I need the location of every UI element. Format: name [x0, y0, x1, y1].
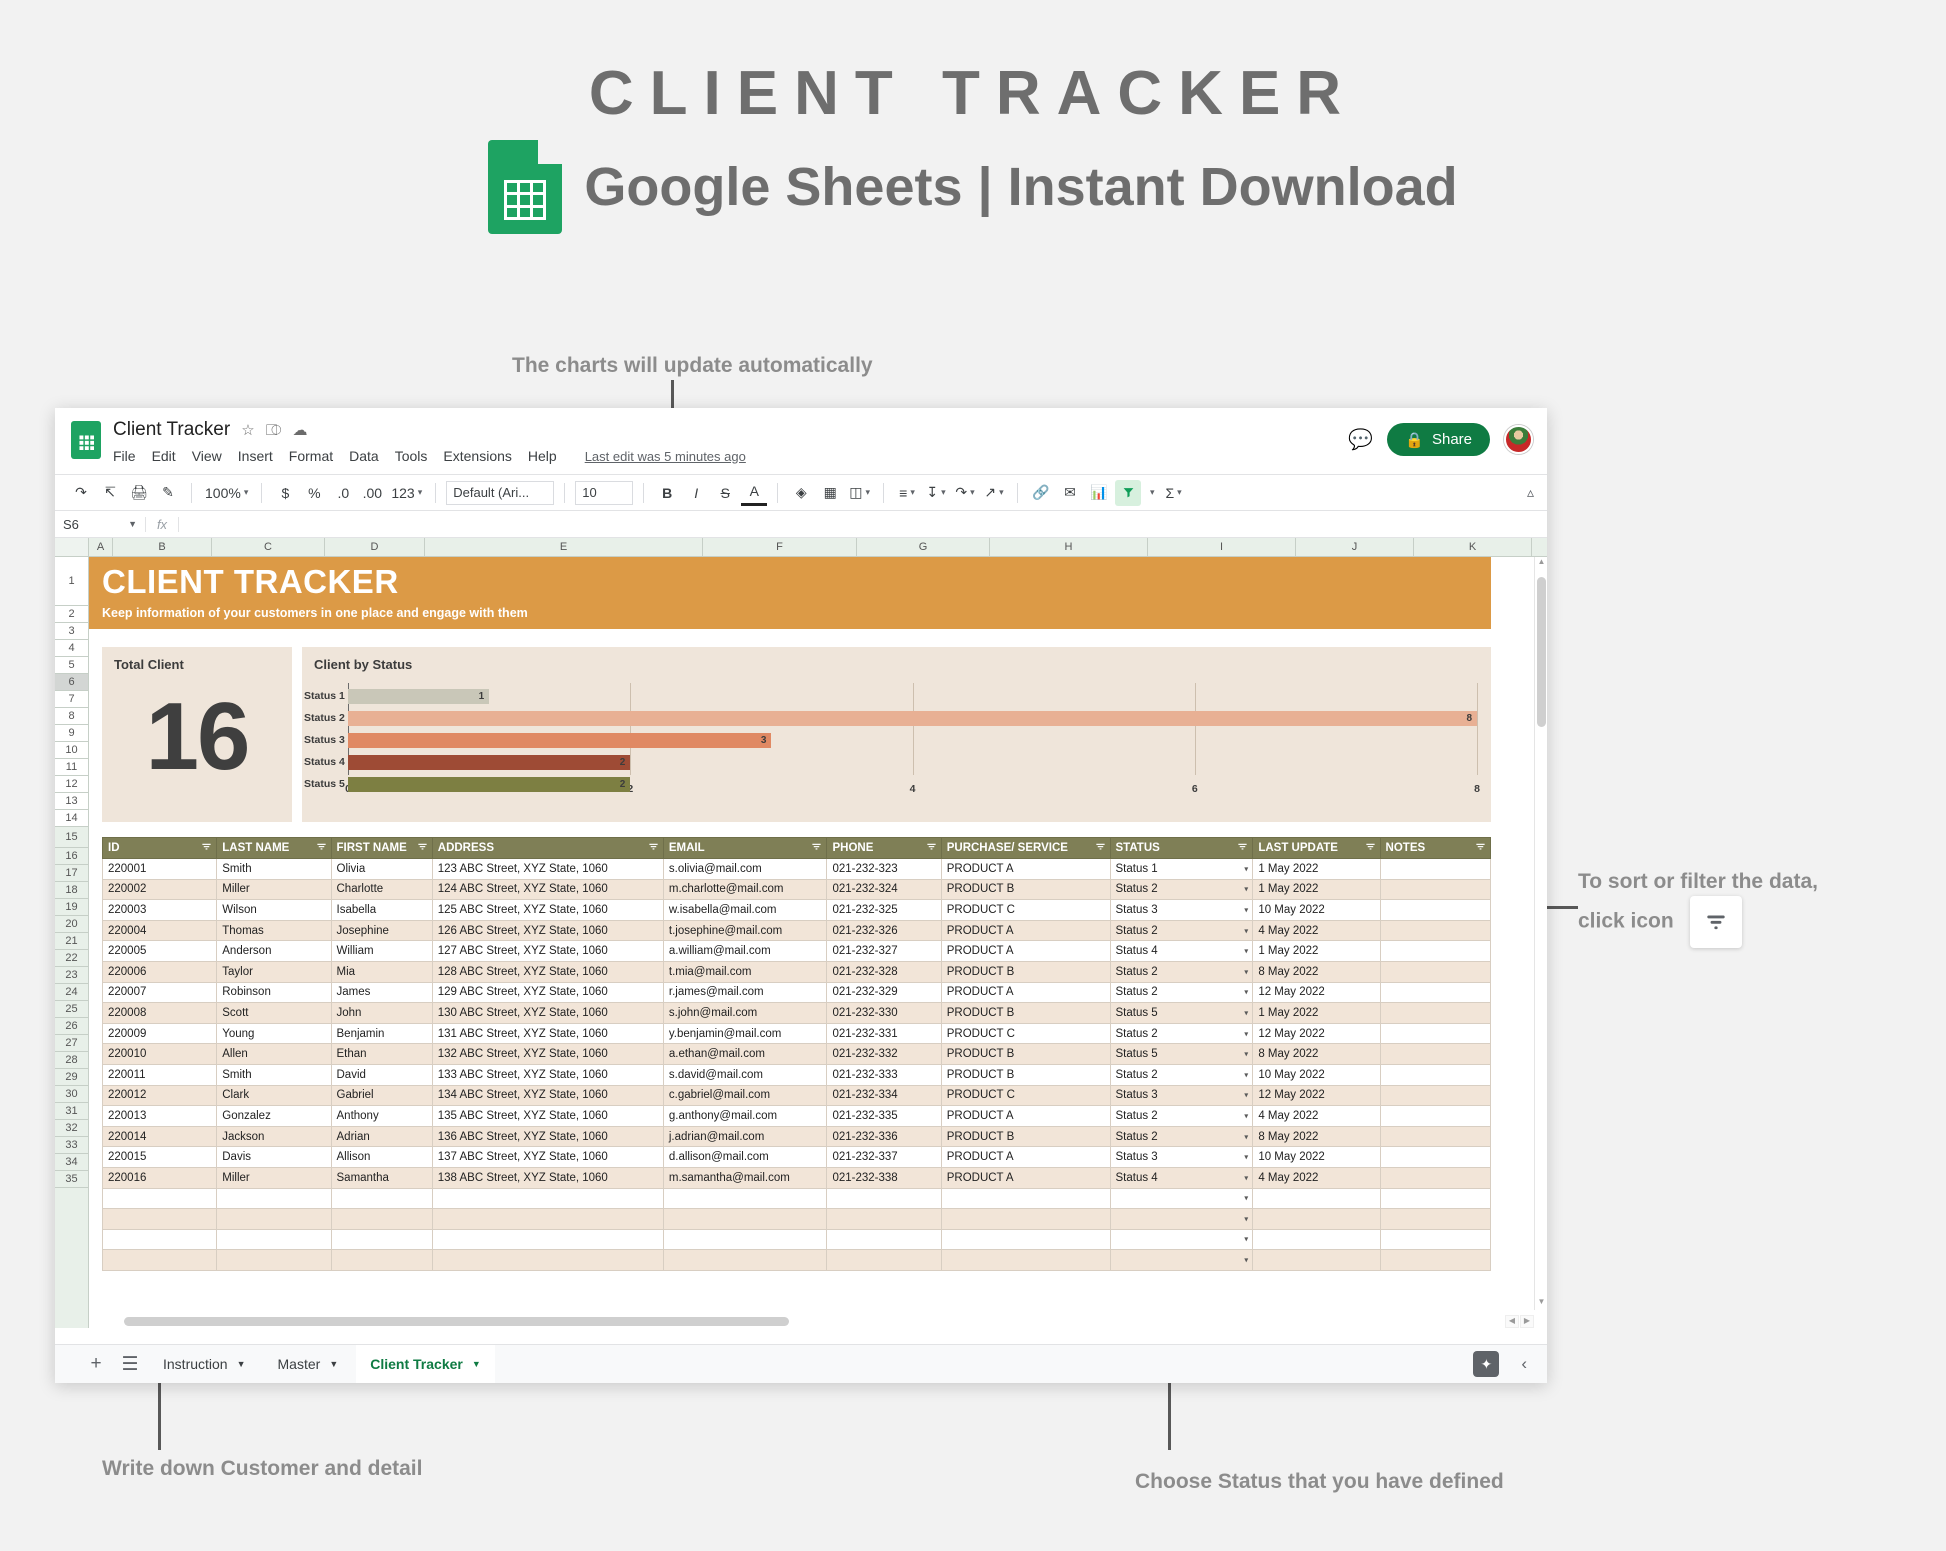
table-cell[interactable]: 021-232-328	[827, 961, 941, 982]
filter-icon[interactable]	[926, 841, 937, 855]
table-cell[interactable]: 133 ABC Street, XYZ State, 1060	[432, 1064, 663, 1085]
table-cell[interactable]: 12 May 2022	[1253, 982, 1380, 1003]
table-cell[interactable]: 124 ABC Street, XYZ State, 1060	[432, 879, 663, 900]
table-cell[interactable]	[1253, 1188, 1380, 1209]
row-header-24[interactable]: 24	[55, 984, 88, 1001]
chevron-down-icon[interactable]: ▾	[1244, 1256, 1248, 1265]
table-row[interactable]: 220009YoungBenjamin131 ABC Street, XYZ S…	[103, 1023, 1491, 1044]
table-cell[interactable]	[1380, 1023, 1490, 1044]
table-cell[interactable]: 136 ABC Street, XYZ State, 1060	[432, 1126, 663, 1147]
scroll-right-icon[interactable]: ▶	[1520, 1315, 1534, 1328]
table-row[interactable]: 220004ThomasJosephine126 ABC Street, XYZ…	[103, 920, 1491, 941]
table-cell[interactable]: PRODUCT B	[941, 1003, 1110, 1024]
table-header-last-name[interactable]: LAST NAME	[217, 838, 331, 859]
table-cell[interactable]: 126 ABC Street, XYZ State, 1060	[432, 920, 663, 941]
row-header-22[interactable]: 22	[55, 950, 88, 967]
table-cell[interactable]	[1380, 1229, 1490, 1250]
font-size-selector[interactable]: 10	[575, 481, 633, 505]
table-cell[interactable]	[663, 1229, 827, 1250]
vertical-scroll-thumb[interactable]	[1537, 577, 1546, 727]
row-header-30[interactable]: 30	[55, 1086, 88, 1103]
redo-icon[interactable]: ↸	[97, 480, 123, 506]
filter-icon[interactable]	[417, 841, 428, 855]
table-cell[interactable]: 1 May 2022	[1253, 859, 1380, 880]
table-cell[interactable]: 021-232-325	[827, 900, 941, 921]
zoom-selector[interactable]: 100%	[202, 480, 251, 506]
row-header-23[interactable]: 23	[55, 967, 88, 984]
table-cell[interactable]: PRODUCT A	[941, 1147, 1110, 1168]
table-row[interactable]: 220003WilsonIsabella125 ABC Street, XYZ …	[103, 900, 1491, 921]
table-header-purchase-service[interactable]: PURCHASE/ SERVICE	[941, 838, 1110, 859]
status-dropdown-cell[interactable]: Status 4▾	[1110, 1167, 1253, 1188]
table-row-empty[interactable]: ▾	[103, 1188, 1491, 1209]
table-cell[interactable]: 125 ABC Street, XYZ State, 1060	[432, 900, 663, 921]
table-cell[interactable]	[1380, 1167, 1490, 1188]
horizontal-scroll-thumb[interactable]	[124, 1317, 789, 1326]
table-cell[interactable]: Smith	[217, 1064, 331, 1085]
table-row-empty[interactable]: ▾	[103, 1209, 1491, 1230]
table-cell[interactable]	[331, 1209, 432, 1230]
chevron-down-icon[interactable]: ▾	[1244, 1173, 1248, 1182]
decrease-decimal-button[interactable]: .0	[330, 480, 356, 506]
table-cell[interactable]	[1253, 1250, 1380, 1271]
status-dropdown-cell[interactable]: Status 3▾	[1110, 1147, 1253, 1168]
status-dropdown-cell[interactable]: Status 4▾	[1110, 941, 1253, 962]
print-icon[interactable]: 🖨	[126, 480, 152, 506]
table-cell[interactable]: Gabriel	[331, 1085, 432, 1106]
table-cell[interactable]	[941, 1229, 1110, 1250]
chevron-down-icon[interactable]: ▼	[472, 1359, 481, 1369]
row-header-13[interactable]: 13	[55, 793, 88, 810]
filter-icon[interactable]	[201, 841, 212, 855]
table-row[interactable]: 220013GonzalezAnthony135 ABC Street, XYZ…	[103, 1106, 1491, 1127]
table-cell[interactable]	[331, 1188, 432, 1209]
table-cell[interactable]: Smith	[217, 859, 331, 880]
table-cell[interactable]	[432, 1250, 663, 1271]
table-cell[interactable]: Scott	[217, 1003, 331, 1024]
table-header-address[interactable]: ADDRESS	[432, 838, 663, 859]
table-cell[interactable]	[1380, 920, 1490, 941]
table-cell[interactable]: Benjamin	[331, 1023, 432, 1044]
table-cell[interactable]: 021-232-329	[827, 982, 941, 1003]
table-cell[interactable]: Miller	[217, 1167, 331, 1188]
table-cell[interactable]	[331, 1229, 432, 1250]
table-cell[interactable]: 220007	[103, 982, 217, 1003]
table-cell[interactable]: John	[331, 1003, 432, 1024]
table-cell[interactable]	[1380, 941, 1490, 962]
table-cell[interactable]: 220012	[103, 1085, 217, 1106]
table-header-first-name[interactable]: FIRST NAME	[331, 838, 432, 859]
table-cell[interactable]: t.josephine@mail.com	[663, 920, 827, 941]
table-cell[interactable]: 220013	[103, 1106, 217, 1127]
row-header-28[interactable]: 28	[55, 1052, 88, 1069]
column-header-j[interactable]: J	[1296, 538, 1414, 556]
sheet-tab-master[interactable]: Master ▼	[264, 1345, 353, 1384]
table-header-id[interactable]: ID	[103, 838, 217, 859]
menu-data[interactable]: Data	[349, 448, 379, 464]
table-row-empty[interactable]: ▾	[103, 1250, 1491, 1271]
table-cell[interactable]: 021-232-331	[827, 1023, 941, 1044]
chevron-down-icon[interactable]: ▼	[237, 1359, 246, 1369]
table-cell[interactable]	[1380, 982, 1490, 1003]
table-cell[interactable]	[1380, 1147, 1490, 1168]
table-row[interactable]: 220001SmithOlivia123 ABC Street, XYZ Sta…	[103, 859, 1491, 880]
row-header-7[interactable]: 7	[55, 691, 88, 708]
table-cell[interactable]: 021-232-336	[827, 1126, 941, 1147]
table-cell[interactable]: 123 ABC Street, XYZ State, 1060	[432, 859, 663, 880]
table-cell[interactable]	[103, 1188, 217, 1209]
table-cell[interactable]: 021-232-338	[827, 1167, 941, 1188]
row-header-29[interactable]: 29	[55, 1069, 88, 1086]
table-cell[interactable]: James	[331, 982, 432, 1003]
italic-button[interactable]: I	[683, 480, 709, 506]
row-header-2[interactable]: 2	[55, 606, 88, 623]
table-cell[interactable]: 4 May 2022	[1253, 1106, 1380, 1127]
table-cell[interactable]: s.john@mail.com	[663, 1003, 827, 1024]
row-header-12[interactable]: 12	[55, 776, 88, 793]
text-rotation-icon[interactable]: ↗	[981, 480, 1007, 506]
horizontal-scrollbar[interactable]	[89, 1315, 1517, 1328]
table-row[interactable]: 220015DavisAllison137 ABC Street, XYZ St…	[103, 1147, 1491, 1168]
status-dropdown-cell[interactable]: Status 2▾	[1110, 961, 1253, 982]
table-cell[interactable]: 220008	[103, 1003, 217, 1024]
table-header-phone[interactable]: PHONE	[827, 838, 941, 859]
chevron-down-icon[interactable]: ▾	[1244, 1070, 1248, 1079]
row-header-15[interactable]: 15	[55, 827, 88, 848]
table-cell[interactable]: 220004	[103, 920, 217, 941]
table-cell[interactable]: 138 ABC Street, XYZ State, 1060	[432, 1167, 663, 1188]
table-row[interactable]: 220006TaylorMia128 ABC Street, XYZ State…	[103, 961, 1491, 982]
table-cell[interactable]	[432, 1209, 663, 1230]
table-cell[interactable]	[1380, 900, 1490, 921]
table-cell[interactable]: PRODUCT B	[941, 961, 1110, 982]
table-cell[interactable]: 12 May 2022	[1253, 1085, 1380, 1106]
table-cell[interactable]	[941, 1250, 1110, 1271]
status-dropdown-cell[interactable]: Status 2▾	[1110, 1126, 1253, 1147]
table-cell[interactable]: 220002	[103, 879, 217, 900]
share-button[interactable]: 🔒 Share	[1387, 423, 1490, 456]
table-cell[interactable]: a.william@mail.com	[663, 941, 827, 962]
table-cell[interactable]: PRODUCT A	[941, 1167, 1110, 1188]
row-header-14[interactable]: 14	[55, 810, 88, 827]
menu-format[interactable]: Format	[289, 448, 333, 464]
table-cell[interactable]	[1380, 1209, 1490, 1230]
table-cell[interactable]: 220016	[103, 1167, 217, 1188]
row-header-1[interactable]: 1	[55, 557, 88, 606]
table-cell[interactable]: 220011	[103, 1064, 217, 1085]
table-cell[interactable]: PRODUCT A	[941, 920, 1110, 941]
row-header-34[interactable]: 34	[55, 1154, 88, 1171]
table-cell[interactable]: 220003	[103, 900, 217, 921]
table-cell[interactable]: 220010	[103, 1044, 217, 1065]
table-cell[interactable]: 8 May 2022	[1253, 1126, 1380, 1147]
table-row[interactable]: 220016MillerSamantha138 ABC Street, XYZ …	[103, 1167, 1491, 1188]
table-cell[interactable]: PRODUCT A	[941, 1106, 1110, 1127]
table-cell[interactable]	[663, 1250, 827, 1271]
table-cell[interactable]	[103, 1250, 217, 1271]
table-cell[interactable]: Davis	[217, 1147, 331, 1168]
filter-icon[interactable]	[1115, 480, 1141, 506]
user-avatar[interactable]	[1504, 425, 1533, 454]
status-dropdown-cell[interactable]: Status 2▾	[1110, 879, 1253, 900]
filter-icon[interactable]	[811, 841, 822, 855]
name-box[interactable]: S6 ▼	[55, 511, 145, 537]
table-header-notes[interactable]: NOTES	[1380, 838, 1490, 859]
row-header-31[interactable]: 31	[55, 1103, 88, 1120]
chevron-down-icon[interactable]: ▾	[1244, 885, 1248, 894]
fill-color-icon[interactable]: ◈	[788, 480, 814, 506]
table-row[interactable]: 220011SmithDavid133 ABC Street, XYZ Stat…	[103, 1064, 1491, 1085]
table-cell[interactable]: 220005	[103, 941, 217, 962]
table-cell[interactable]: w.isabella@mail.com	[663, 900, 827, 921]
table-cell[interactable]: Jackson	[217, 1126, 331, 1147]
table-cell[interactable]: 10 May 2022	[1253, 1147, 1380, 1168]
table-cell[interactable]	[1380, 1064, 1490, 1085]
insert-chart-icon[interactable]: 📊	[1086, 480, 1112, 506]
table-cell[interactable]: William	[331, 941, 432, 962]
table-cell[interactable]	[432, 1188, 663, 1209]
status-dropdown-cell[interactable]: Status 3▾	[1110, 1085, 1253, 1106]
table-cell[interactable]	[827, 1209, 941, 1230]
row-header-11[interactable]: 11	[55, 759, 88, 776]
table-cell[interactable]	[217, 1209, 331, 1230]
chevron-down-icon[interactable]: ▾	[1244, 1194, 1248, 1203]
table-cell[interactable]: 137 ABC Street, XYZ State, 1060	[432, 1147, 663, 1168]
chevron-down-icon[interactable]: ▾	[1244, 1091, 1248, 1100]
paint-format-icon[interactable]: ✎	[155, 480, 181, 506]
table-cell[interactable]	[1380, 961, 1490, 982]
table-cell[interactable]: Isabella	[331, 900, 432, 921]
chevron-down-icon[interactable]: ▾	[1244, 1008, 1248, 1017]
borders-icon[interactable]: ▦	[817, 480, 843, 506]
column-header-i[interactable]: I	[1148, 538, 1296, 556]
row-header-8[interactable]: 8	[55, 708, 88, 725]
table-row[interactable]: 220005AndersonWilliam127 ABC Street, XYZ…	[103, 941, 1491, 962]
table-cell[interactable]: y.benjamin@mail.com	[663, 1023, 827, 1044]
table-cell[interactable]: 132 ABC Street, XYZ State, 1060	[432, 1044, 663, 1065]
vertical-align-icon[interactable]: ↧	[923, 480, 949, 506]
table-cell[interactable]	[827, 1250, 941, 1271]
table-cell[interactable]: 021-232-326	[827, 920, 941, 941]
sheet-tab-client-tracker[interactable]: Client Tracker ▼	[356, 1345, 495, 1384]
table-cell[interactable]: 1 May 2022	[1253, 941, 1380, 962]
table-cell[interactable]: 130 ABC Street, XYZ State, 1060	[432, 1003, 663, 1024]
table-cell[interactable]	[1253, 1209, 1380, 1230]
table-cell[interactable]	[1380, 1126, 1490, 1147]
select-all-corner[interactable]	[55, 538, 89, 556]
table-cell[interactable]: Olivia	[331, 859, 432, 880]
table-cell[interactable]: 134 ABC Street, XYZ State, 1060	[432, 1085, 663, 1106]
table-cell[interactable]: PRODUCT B	[941, 1044, 1110, 1065]
table-cell[interactable]: m.charlotte@mail.com	[663, 879, 827, 900]
table-cell[interactable]: Clark	[217, 1085, 331, 1106]
filter-icon[interactable]	[648, 841, 659, 855]
table-cell[interactable]: Adrian	[331, 1126, 432, 1147]
sheet-tab-instruction[interactable]: Instruction ▼	[149, 1345, 260, 1384]
column-header-e[interactable]: E	[425, 538, 703, 556]
table-cell[interactable]: PRODUCT C	[941, 1023, 1110, 1044]
table-cell[interactable]: Charlotte	[331, 879, 432, 900]
table-cell[interactable]: Mia	[331, 961, 432, 982]
chevron-down-icon[interactable]: ▾	[1244, 947, 1248, 956]
table-cell[interactable]: Allen	[217, 1044, 331, 1065]
filter-icon[interactable]	[316, 841, 327, 855]
table-cell[interactable]	[1380, 1085, 1490, 1106]
table-cell[interactable]	[827, 1229, 941, 1250]
chevron-down-icon[interactable]: ▾	[1244, 1132, 1248, 1141]
table-cell[interactable]	[827, 1188, 941, 1209]
status-dropdown-cell[interactable]: Status 2▾	[1110, 1064, 1253, 1085]
table-cell[interactable]: PRODUCT C	[941, 1085, 1110, 1106]
chevron-down-icon[interactable]: ▾	[1244, 926, 1248, 935]
bold-button[interactable]: B	[654, 480, 680, 506]
table-cell[interactable]	[1380, 1250, 1490, 1271]
table-header-status[interactable]: STATUS	[1110, 838, 1253, 859]
table-cell[interactable]	[331, 1250, 432, 1271]
table-cell[interactable]	[432, 1229, 663, 1250]
table-cell[interactable]: 021-232-327	[827, 941, 941, 962]
table-cell[interactable]: Anderson	[217, 941, 331, 962]
row-header-25[interactable]: 25	[55, 1001, 88, 1018]
table-cell[interactable]: Ethan	[331, 1044, 432, 1065]
all-sheets-icon[interactable]: ☰	[115, 1353, 145, 1376]
column-header-h[interactable]: H	[990, 538, 1148, 556]
status-dropdown-cell[interactable]: Status 5▾	[1110, 1044, 1253, 1065]
column-header-f[interactable]: F	[703, 538, 857, 556]
table-cell[interactable]: 021-232-337	[827, 1147, 941, 1168]
row-header-3[interactable]: 3	[55, 623, 88, 640]
table-cell[interactable]: 021-232-323	[827, 859, 941, 880]
table-row[interactable]: 220012ClarkGabriel134 ABC Street, XYZ St…	[103, 1085, 1491, 1106]
table-cell[interactable]	[103, 1209, 217, 1230]
status-dropdown-cell[interactable]: Status 5▾	[1110, 1003, 1253, 1024]
table-header-email[interactable]: EMAIL	[663, 838, 827, 859]
text-wrap-icon[interactable]: ↷	[952, 480, 978, 506]
table-cell[interactable]	[941, 1209, 1110, 1230]
chevron-down-icon[interactable]: ▾	[1244, 1235, 1248, 1244]
table-cell[interactable]: 220006	[103, 961, 217, 982]
table-cell[interactable]: 128 ABC Street, XYZ State, 1060	[432, 961, 663, 982]
table-cell[interactable]: Allison	[331, 1147, 432, 1168]
table-cell[interactable]: 220001	[103, 859, 217, 880]
chevron-down-icon[interactable]: ▾	[1244, 967, 1248, 976]
merge-cells-icon[interactable]: ◫	[846, 480, 873, 506]
status-dropdown-cell[interactable]: Status 3▾	[1110, 900, 1253, 921]
chevron-down-icon[interactable]: ▾	[1244, 1111, 1248, 1120]
table-cell[interactable]: 10 May 2022	[1253, 1064, 1380, 1085]
table-cell[interactable]: PRODUCT B	[941, 1064, 1110, 1085]
chevron-down-icon[interactable]: ▼	[329, 1359, 338, 1369]
table-cell[interactable]: c.gabriel@mail.com	[663, 1085, 827, 1106]
status-dropdown-cell[interactable]: Status 2▾	[1110, 982, 1253, 1003]
table-row[interactable]: 220007RobinsonJames129 ABC Street, XYZ S…	[103, 982, 1491, 1003]
explore-icon[interactable]: ✦	[1473, 1351, 1499, 1377]
table-cell[interactable]: 220009	[103, 1023, 217, 1044]
menu-edit[interactable]: Edit	[152, 448, 176, 464]
add-sheet-icon[interactable]: +	[81, 1353, 111, 1375]
row-header-19[interactable]: 19	[55, 899, 88, 916]
table-cell[interactable]: 021-232-335	[827, 1106, 941, 1127]
table-cell[interactable]	[217, 1250, 331, 1271]
table-cell[interactable]: 220014	[103, 1126, 217, 1147]
table-cell[interactable]: 1 May 2022	[1253, 879, 1380, 900]
table-cell[interactable]: t.mia@mail.com	[663, 961, 827, 982]
table-cell[interactable]	[1380, 859, 1490, 880]
status-dropdown-cell[interactable]: ▾	[1110, 1209, 1253, 1230]
row-header-27[interactable]: 27	[55, 1035, 88, 1052]
table-cell[interactable]: 021-232-334	[827, 1085, 941, 1106]
table-cell[interactable]: PRODUCT B	[941, 879, 1110, 900]
chevron-down-icon[interactable]: ▾	[1244, 1214, 1248, 1223]
table-row[interactable]: 220002MillerCharlotte124 ABC Street, XYZ…	[103, 879, 1491, 900]
document-title[interactable]: Client Tracker	[113, 419, 230, 441]
sum-icon[interactable]: Σ	[1161, 480, 1187, 506]
chevron-down-icon[interactable]: ▾	[1244, 1050, 1248, 1059]
column-header-g[interactable]: G	[857, 538, 990, 556]
table-row[interactable]: 220010AllenEthan132 ABC Street, XYZ Stat…	[103, 1044, 1491, 1065]
table-cell[interactable]	[941, 1188, 1110, 1209]
row-header-4[interactable]: 4	[55, 640, 88, 657]
strikethrough-button[interactable]: S	[712, 480, 738, 506]
status-dropdown-cell[interactable]: ▾	[1110, 1250, 1253, 1271]
table-cell[interactable]: g.anthony@mail.com	[663, 1106, 827, 1127]
filter-icon[interactable]	[1095, 841, 1106, 855]
row-header-17[interactable]: 17	[55, 865, 88, 882]
table-cell[interactable]: PRODUCT C	[941, 900, 1110, 921]
row-header-21[interactable]: 21	[55, 933, 88, 950]
increase-decimal-button[interactable]: .00	[359, 480, 385, 506]
table-cell[interactable]	[663, 1209, 827, 1230]
status-dropdown-cell[interactable]: Status 2▾	[1110, 1023, 1253, 1044]
filter-icon[interactable]	[1365, 841, 1376, 855]
scroll-down-icon[interactable]: ▼	[1535, 1297, 1547, 1310]
scroll-up-icon[interactable]: ▲	[1535, 557, 1547, 570]
menu-view[interactable]: View	[192, 448, 222, 464]
table-row-empty[interactable]: ▾	[103, 1229, 1491, 1250]
row-header-35[interactable]: 35	[55, 1171, 88, 1188]
table-cell[interactable]: 021-232-332	[827, 1044, 941, 1065]
column-header-c[interactable]: C	[212, 538, 325, 556]
table-cell[interactable]: PRODUCT A	[941, 941, 1110, 962]
row-header-20[interactable]: 20	[55, 916, 88, 933]
row-header-6[interactable]: 6	[55, 674, 88, 691]
table-header-last-update[interactable]: LAST UPDATE	[1253, 838, 1380, 859]
table-cell[interactable]	[217, 1188, 331, 1209]
column-header-a[interactable]: A	[89, 538, 113, 556]
insert-link-icon[interactable]: 🔗	[1028, 480, 1054, 506]
chevron-down-icon[interactable]: ▾	[1244, 1153, 1248, 1162]
row-header-16[interactable]: 16	[55, 848, 88, 865]
vertical-scrollbar[interactable]: ▲ ▼	[1534, 557, 1547, 1310]
scroll-left-icon[interactable]: ◀	[1505, 1315, 1519, 1328]
table-cell[interactable]: Taylor	[217, 961, 331, 982]
status-dropdown-cell[interactable]: ▾	[1110, 1229, 1253, 1250]
table-cell[interactable]	[1380, 1188, 1490, 1209]
collapse-toolbar-icon[interactable]: ▵	[1527, 484, 1534, 501]
table-cell[interactable]: 021-232-333	[827, 1064, 941, 1085]
table-cell[interactable]	[103, 1229, 217, 1250]
table-cell[interactable]: 8 May 2022	[1253, 961, 1380, 982]
table-cell[interactable]: 4 May 2022	[1253, 920, 1380, 941]
status-dropdown-cell[interactable]: Status 1▾	[1110, 859, 1253, 880]
table-cell[interactable]: 127 ABC Street, XYZ State, 1060	[432, 941, 663, 962]
chevron-down-icon[interactable]: ▾	[1244, 1029, 1248, 1038]
table-cell[interactable]: Josephine	[331, 920, 432, 941]
star-icon[interactable]: ☆	[241, 423, 254, 438]
table-row[interactable]: 220014JacksonAdrian136 ABC Street, XYZ S…	[103, 1126, 1491, 1147]
comment-history-icon[interactable]: 💬	[1348, 427, 1373, 452]
move-to-folder-icon[interactable]: ⎄	[266, 423, 282, 438]
